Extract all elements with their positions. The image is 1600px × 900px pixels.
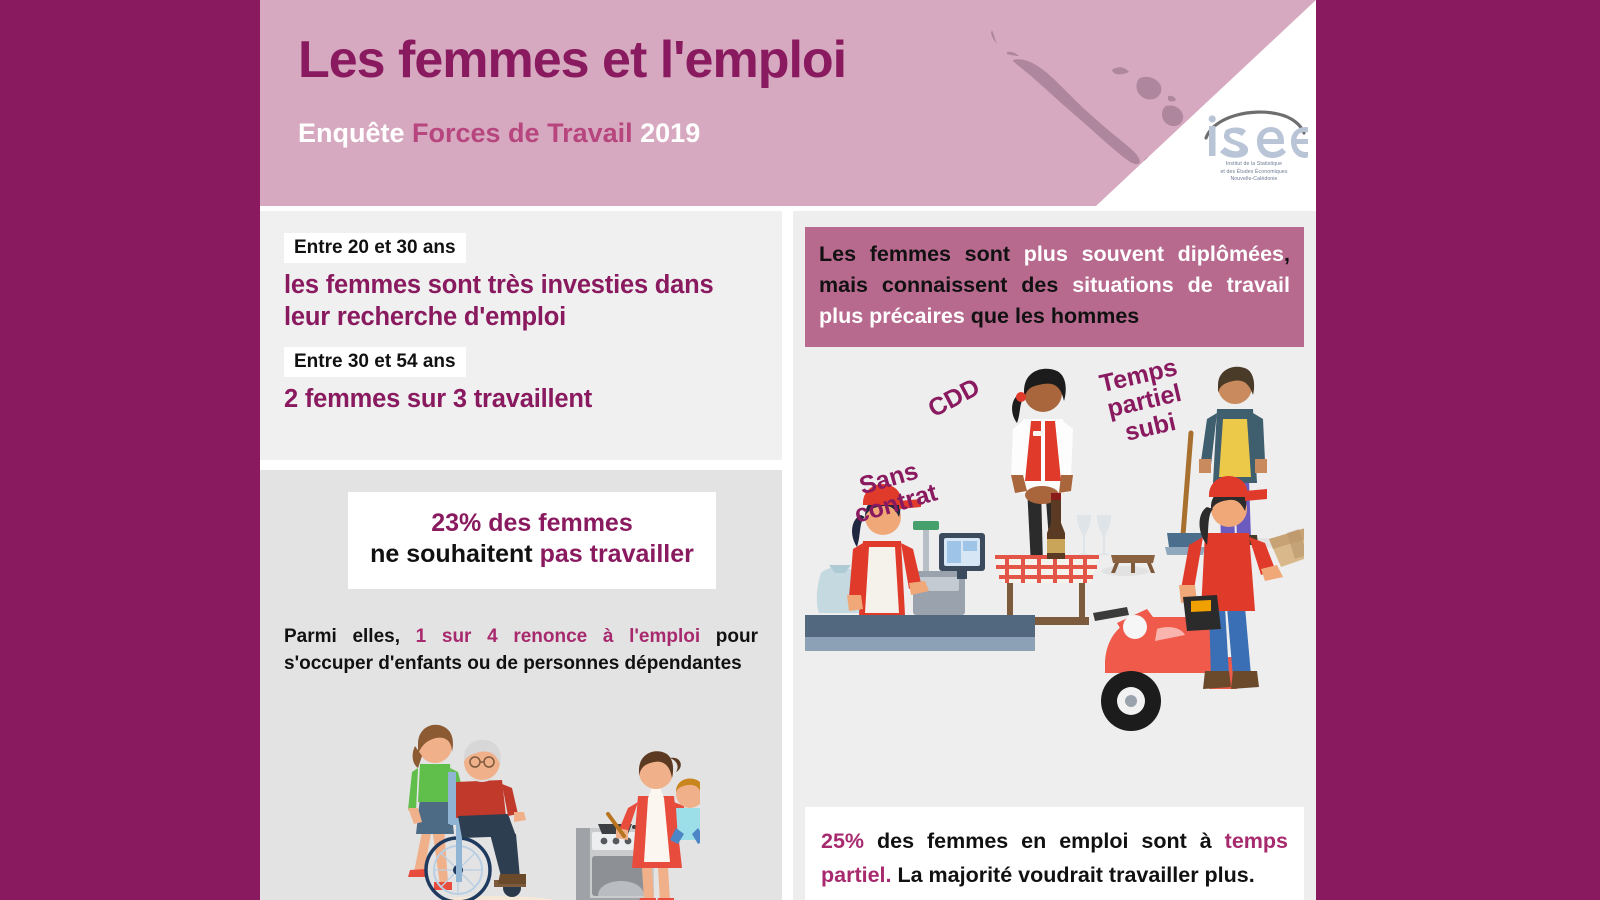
- caregiving-paragraph: Parmi elles, 1 sur 4 renonce à l'emploi …: [284, 623, 758, 678]
- subtitle-accent: Forces de Travail: [412, 118, 633, 148]
- logo-tagline: Institut de la Statistique et des Études…: [1200, 161, 1308, 184]
- logo-tagline-line1: Institut de la Statistique: [1200, 161, 1308, 169]
- right-column: Les femmes sont plus souvent diplômées, …: [793, 211, 1316, 900]
- stat-card-line1: 23% des femmes: [358, 508, 706, 538]
- stat-block-30-54: Entre 30 et 54 ans 2 femmes sur 3 travai…: [284, 347, 758, 415]
- age-tag-20-30: Entre 20 et 30 ans: [284, 233, 466, 263]
- logo-tagline-line3: Nouvelle-Calédonie: [1200, 176, 1308, 184]
- stat-card-line2-accent: pas travailler: [540, 540, 694, 568]
- page-subtitle: Enquête Forces de Travail 2019: [298, 118, 700, 149]
- part-time-mid-1: des femmes en emploi sont à: [864, 829, 1225, 853]
- stat-text-20-30-line1: les femmes sont très investies dans: [284, 269, 758, 301]
- precarious-work-illustration: CDD Temps partiel subi Sans contrat: [805, 357, 1304, 757]
- diploma-precarity-banner: Les femmes sont plus souvent diplômées, …: [805, 227, 1304, 347]
- caregiving-paragraph-pre: Parmi elles,: [284, 626, 416, 647]
- stat-text-30-54: 2 femmes sur 3 travaillent: [284, 383, 758, 415]
- isee-logo: Institut de la Statistique et des Études…: [1200, 108, 1308, 186]
- stat-block-20-30: Entre 20 et 30 ans les femmes sont très …: [284, 233, 758, 333]
- stat-text-20-30: les femmes sont très investies dans leur…: [284, 269, 758, 333]
- caregiving-paragraph-accent: 1 sur 4 renonce à l'emploi: [416, 626, 700, 647]
- header-banner: Les femmes et l'emploi Enquête Forces de…: [260, 0, 1316, 206]
- caregiving-illustration: [370, 710, 700, 900]
- part-time-accent-1: 25%: [821, 829, 864, 853]
- banner-seg2: plus souvent diplômées: [1024, 242, 1284, 266]
- page-title: Les femmes et l'emploi: [298, 30, 846, 90]
- age-tag-30-54: Entre 30 et 54 ans: [284, 347, 466, 377]
- part-time-card: 25% des femmes en emploi sont à temps pa…: [805, 807, 1304, 900]
- stat-card-23-percent: 23% des femmes ne souhaitent pas travail…: [348, 492, 716, 589]
- infographic-page: Les femmes et l'emploi Enquête Forces de…: [0, 0, 1600, 900]
- non-employment-panel: 23% des femmes ne souhaitent pas travail…: [260, 470, 782, 900]
- stat-card-line2: ne souhaitent pas travailler: [358, 538, 706, 571]
- stat-card-line2-pre: ne souhaitent: [370, 540, 539, 568]
- logo-tagline-line2: et des Études Économiques: [1200, 169, 1308, 177]
- part-time-mid-2: La majorité voudrait travailler plus.: [892, 863, 1255, 887]
- left-column: Entre 20 et 30 ans les femmes sont très …: [260, 211, 782, 900]
- subtitle-pre: Enquête: [298, 118, 412, 148]
- stat-text-20-30-line2: leur recherche d'emploi: [284, 301, 758, 333]
- panel-a-spacer: [284, 333, 758, 347]
- document-sheet: Les femmes et l'emploi Enquête Forces de…: [260, 0, 1316, 900]
- subtitle-post: 2019: [633, 118, 701, 148]
- banner-seg5: que les hommes: [965, 304, 1139, 328]
- age-statistics-panel: Entre 20 et 30 ans les femmes sont très …: [260, 211, 782, 460]
- banner-seg1: Les femmes sont: [819, 242, 1024, 266]
